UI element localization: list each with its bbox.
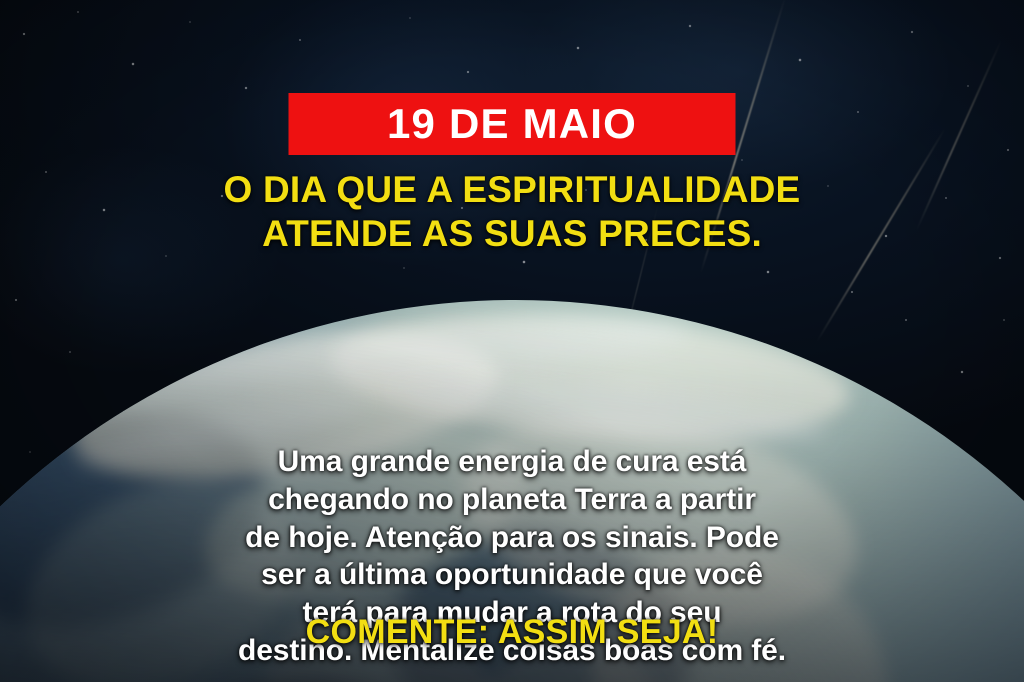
call-to-action: COMENTE: ASSIM SEJA! bbox=[0, 615, 1024, 649]
headline-line-1: O DIA QUE A ESPIRITUALIDADE bbox=[60, 168, 964, 212]
date-banner: 19 DE MAIO bbox=[289, 93, 736, 155]
poster-image: 19 DE MAIO O DIA QUE A ESPIRITUALIDADE A… bbox=[0, 0, 1024, 685]
headline-line-2: ATENDE AS SUAS PRECES. bbox=[60, 212, 964, 256]
poster-content: 19 DE MAIO O DIA QUE A ESPIRITUALIDADE A… bbox=[0, 0, 1024, 685]
body-line-1: Uma grande energia de cura está bbox=[48, 443, 976, 481]
body-line-2: chegando no planeta Terra a partir bbox=[48, 481, 976, 519]
headline: O DIA QUE A ESPIRITUALIDADE ATENDE AS SU… bbox=[0, 168, 1024, 255]
body-line-3: de hoje. Atenção para os sinais. Pode bbox=[48, 519, 976, 557]
body-line-4: ser a última oportunidade que você bbox=[48, 556, 976, 594]
date-banner-label: 19 DE MAIO bbox=[387, 103, 637, 145]
